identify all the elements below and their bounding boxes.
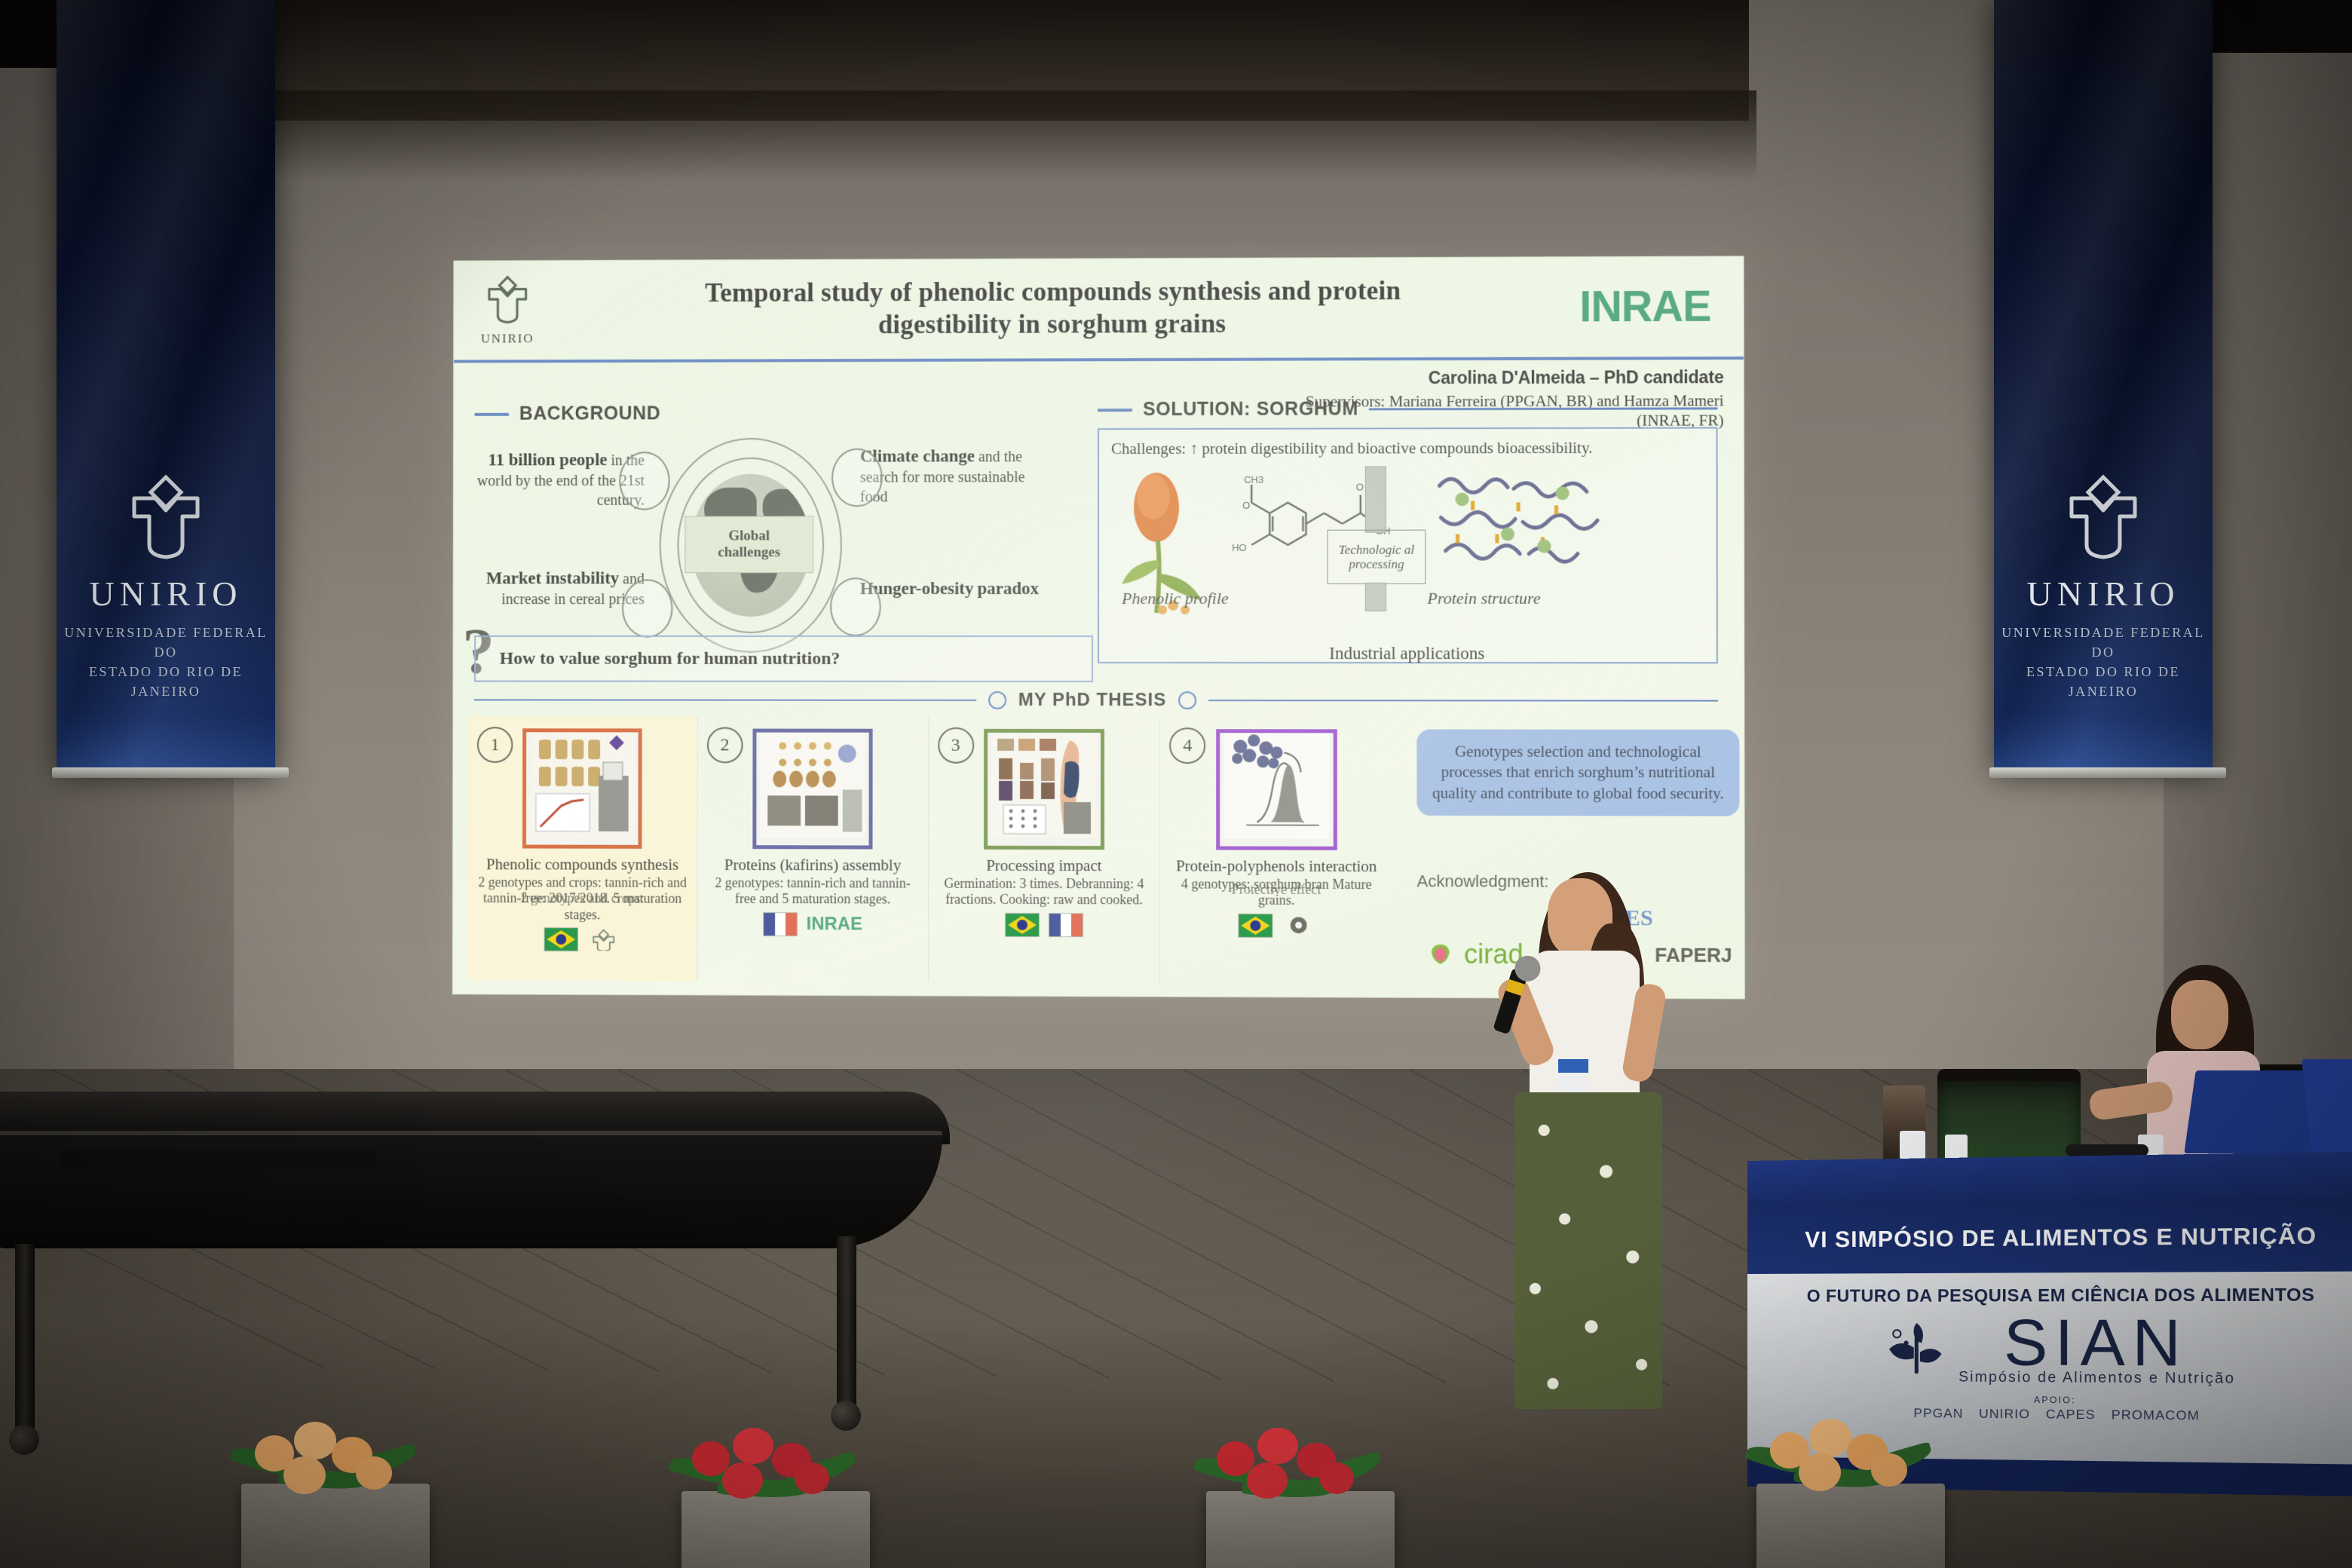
node-circle-left-icon [988, 691, 1006, 709]
svg-text:HO: HO [1232, 542, 1247, 553]
card-flags [477, 927, 688, 952]
unirio-mark-icon [587, 928, 620, 951]
card-subtitle: Germination: 3 times. Debranning: 4 frac… [938, 876, 1151, 908]
industrial-applications-label: Industrial applications [1099, 644, 1717, 663]
slide-title-line2: digestibility in sorghum grains [565, 307, 1542, 341]
symposium-theme: O FUTURO DA PESQUISA EM CIÊNCIA DOS ALIM… [1747, 1284, 2352, 1306]
card-title: Phenolic compounds synthesis [477, 856, 688, 874]
bg-item-climate: Climate change and the search for more s… [860, 445, 1048, 507]
card-number: 2 [707, 727, 743, 764]
globe-label: Global challenges [684, 516, 813, 573]
card-title: Protein-polyphenols interaction [1169, 857, 1383, 875]
conference-scene: UNIRIO UNIVERSIDADE FEDERAL DO ESTADO DO… [0, 0, 2352, 1568]
bg-item-hunger-rest: paradox [977, 579, 1039, 598]
unirio-banner-right: UNIRIO UNIVERSIDADE FEDERAL DO ESTADO DO… [1994, 0, 2213, 769]
banner-title: UNIRIO [1994, 574, 2213, 614]
france-flag-icon [1049, 913, 1083, 937]
card-thumbnail [1216, 729, 1337, 850]
svg-text:O: O [1356, 482, 1364, 493]
speaker-skirt [1514, 1092, 1662, 1409]
brazil-flag-icon [1005, 912, 1040, 936]
sian-caption: Simpósio de Alimentos e Nutrição [1958, 1369, 2235, 1388]
sian-leaf-icon [1880, 1312, 1954, 1386]
grand-piano [0, 1078, 980, 1470]
banner-subtitle-2: ESTADO DO RIO DE JANEIRO [1994, 662, 2213, 701]
solution-heading-row: SOLUTION: SORGHUM [1098, 397, 1717, 421]
card-title: Proteins (kafirins) assembly [706, 856, 918, 874]
solution-graphics: CH3 O HO O OH [1111, 460, 1704, 616]
plate-cutlery-icon [830, 577, 881, 636]
sian-wordmark: SIAN [1958, 1312, 2235, 1376]
author-name: Carolina D'Almeida – PhD candidate [454, 367, 1724, 390]
sponsor-unirio: UNIRIO [1979, 1406, 2030, 1422]
node-circle-right-icon [1178, 691, 1196, 709]
thesis-heading: MY PhD THESIS [1018, 690, 1167, 711]
slide-unirio-label: UNIRIO [472, 331, 544, 346]
card-thumbnail [752, 729, 872, 850]
inrae-logo: INRAE [1565, 282, 1725, 332]
microphone-band [1505, 979, 1525, 996]
cereal-price-icon [622, 579, 672, 638]
card-thumbnail [984, 729, 1104, 850]
panelist-head [2171, 980, 2228, 1049]
laptop-open[interactable] [2184, 1070, 2323, 1153]
card-overlap-text: Protective effect [1160, 881, 1392, 898]
protein-structure-icon [1429, 466, 1619, 580]
bg-item-population-bold: 11 billion people [488, 450, 607, 469]
sian-logo-row: SIAN Simpósio de Alimentos e Nutrição [1747, 1312, 2352, 1389]
thesis-card-4: 4 Protein-polyphenols interaction 4 [1160, 717, 1392, 984]
bg-item-market-bold: Market instability [486, 568, 619, 587]
banner-title: UNIRIO [57, 574, 275, 614]
symposium-title: VI SIMPÓSIO DE ALIMENTOS E NUTRIÇÃO [1805, 1223, 2317, 1253]
card-title: Processing impact [938, 857, 1151, 875]
arrow-down-top-icon [1365, 467, 1386, 533]
piano-leg [837, 1236, 856, 1410]
background-heading: BACKGROUND [519, 403, 660, 424]
bg-item-hunger: Hunger-obesity paradox [860, 577, 1048, 600]
globe-label-line2: challenges [718, 544, 780, 560]
brazil-flag-icon [1238, 913, 1272, 937]
technological-processing-box: Technologic al processing [1328, 530, 1426, 584]
piano-leg [15, 1244, 35, 1432]
solution-box: Challenges: ↑ protein digestibility and … [1098, 427, 1718, 664]
thesis-cards: 1 [468, 716, 1393, 983]
thesis-card-3: 3 [929, 717, 1161, 983]
solution-challenges: Challenges: ↑ protein digestibility and … [1111, 438, 1704, 460]
slide-title: Temporal study of phenolic compounds syn… [565, 275, 1542, 342]
card-number: 1 [477, 727, 513, 763]
arch-shadow [226, 90, 1756, 181]
banner-subtitle-1: UNIVERSIDADE FEDERAL DO [57, 623, 275, 662]
svg-text:O: O [1242, 500, 1250, 511]
unicamp-mark-icon [1282, 914, 1315, 936]
global-challenges-diagram: 11 billion people in the world by the en… [474, 434, 1073, 660]
inrae-mark-icon: INRAE [807, 914, 862, 935]
heading-rule [1369, 407, 1718, 410]
card-subtitle: 2 genotypes: tannin-rich and tannin-free… [706, 875, 918, 908]
piano-music-rest [60, 1150, 377, 1173]
card-number: 3 [938, 727, 974, 764]
unirio-logo-icon [121, 473, 211, 563]
thesis-card-1: 1 [468, 716, 698, 981]
research-question: How to value sorghum for human nutrition… [474, 635, 1093, 682]
card-flags [938, 912, 1151, 937]
protein-structure-label: Protein structure [1427, 589, 1540, 608]
banner-subtitle-1: UNIVERSIDADE FEDERAL DO [1994, 623, 2213, 662]
banner-subtitle-2: ESTADO DO RIO DE JANEIRO [57, 662, 275, 701]
arrow-down-bottom-icon [1365, 583, 1386, 611]
planter-3-flowers [1191, 1425, 1395, 1508]
unirio-logo-icon [2058, 473, 2148, 563]
svg-text:CH3: CH3 [1244, 474, 1263, 485]
conclusion-box: Genotypes selection and technological pr… [1416, 729, 1739, 816]
cirad-mark-icon [1428, 942, 1453, 967]
solution-section: SOLUTION: SORGHUM Challenges: ↑ protein … [1098, 397, 1718, 663]
table-banner-navy: VI SIMPÓSIO DE ALIMENTOS E NUTRIÇÃO [1747, 1196, 2352, 1279]
thesis-card-2: 2 Proteins (kafirins) assembly [697, 717, 928, 982]
planter-2-flowers [666, 1425, 870, 1508]
speaker-person [1496, 878, 1692, 1421]
thermometer-icon [831, 449, 883, 507]
background-section: BACKGROUND 11 billion people in the worl… [474, 402, 1073, 660]
sponsor-capes: CAPES [2046, 1407, 2096, 1423]
card-flags [1169, 913, 1383, 938]
slide-header: UNIRIO Temporal study of phenolic compou… [454, 256, 1744, 360]
solution-heading: SOLUTION: SORGHUM [1143, 398, 1358, 421]
background-heading-row: BACKGROUND [475, 402, 1073, 425]
card-number: 4 [1169, 727, 1205, 764]
bg-item-market: Market instability and increase in cerea… [474, 567, 645, 609]
unirio-banner-left: UNIRIO UNIVERSIDADE FEDERAL DO ESTADO DO… [57, 0, 275, 769]
card-flags: INRAE [706, 911, 918, 936]
slide-unirio-logo-icon: UNIRIO [472, 274, 544, 346]
piano-wheel [9, 1425, 39, 1455]
sponsor-promacom: PROMACOM [2112, 1407, 2200, 1424]
heading-dash [1098, 409, 1132, 412]
card-thumbnail [522, 728, 642, 849]
population-icon [619, 452, 669, 510]
globe-label-line1: Global [728, 528, 770, 544]
banner-rail [52, 767, 289, 778]
thesis-heading-row: MY PhD THESIS [474, 690, 1718, 712]
globe-graphic: Global challenges [652, 438, 847, 656]
planter-4-flowers [1741, 1414, 1945, 1497]
slide-title-line1: Temporal study of phenolic compounds syn… [565, 275, 1542, 311]
france-flag-icon [763, 912, 798, 936]
banner-rail [1989, 767, 2226, 778]
brazil-flag-icon [544, 927, 579, 951]
phenolic-profile-label: Phenolic profile [1122, 589, 1229, 608]
card-overlap-text: 2 genotypes and crops: [468, 890, 697, 907]
planter-1-flowers [226, 1417, 430, 1500]
heading-dash [475, 412, 509, 415]
